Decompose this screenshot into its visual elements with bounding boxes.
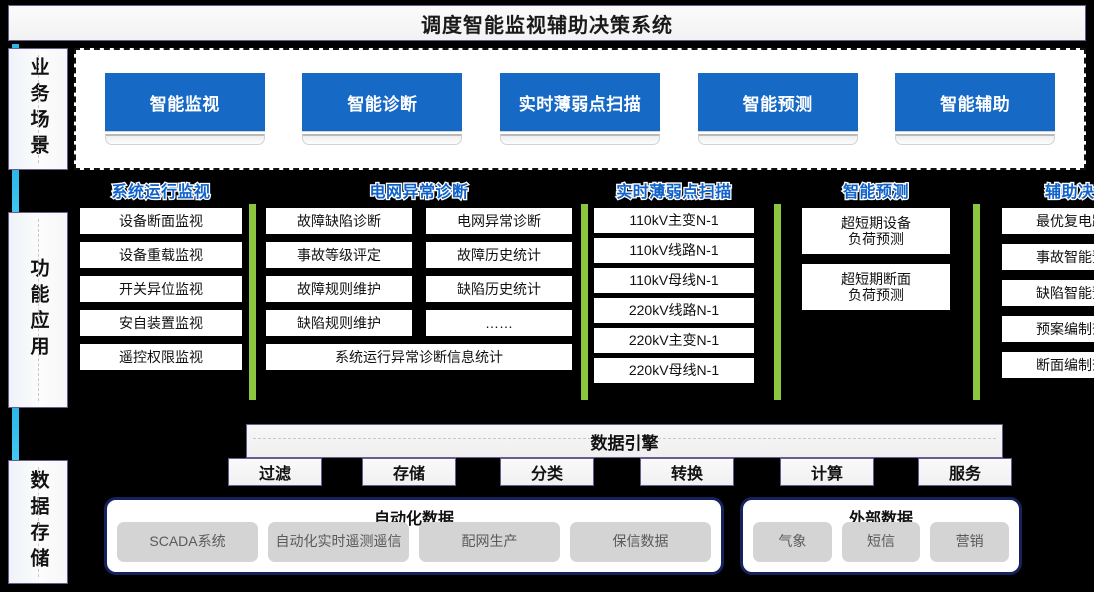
function-column-grid-anomaly-diagnosis: 电网异常诊断 故障缺陷诊断 事故等级评定 故障规则维护 缺陷规则维护 电网异常诊…: [266, 178, 572, 370]
function-column-decision-support: 辅助决策 最优复电路径 事故智能预案 缺陷智能预案 预案编制查询 断面编制查询: [1002, 178, 1094, 388]
card-shadow: [698, 134, 858, 145]
scenario-label[interactable]: 智能辅助: [895, 73, 1055, 131]
scenario-card[interactable]: 智能监视: [105, 73, 265, 145]
scenario-label[interactable]: 智能诊断: [302, 73, 462, 131]
function-item[interactable]: 最优复电路径: [1002, 208, 1094, 234]
function-item[interactable]: 设备断面监视: [80, 208, 242, 234]
function-item[interactable]: 缺陷智能预案: [1002, 280, 1094, 306]
external-data-box: 外部数据 气象 短信 营销: [740, 497, 1022, 575]
data-source-chip[interactable]: 短信: [842, 522, 921, 562]
card-shadow: [105, 134, 265, 145]
column-header: 智能预测: [802, 178, 950, 202]
column-header: 电网异常诊断: [266, 178, 572, 202]
column-header: 系统运行监视: [80, 178, 242, 202]
data-source-chip[interactable]: 气象: [753, 522, 832, 562]
function-item-wide[interactable]: 系统运行异常诊断信息统计: [266, 344, 572, 370]
sidebar-item-function-application[interactable]: 功能应用: [8, 212, 68, 408]
sidebar-item-business-scenario[interactable]: 业务场景: [8, 48, 68, 170]
scenario-card[interactable]: 智能诊断: [302, 73, 462, 145]
sidebar-rail-mid-lower: [12, 408, 19, 460]
function-item[interactable]: 超短期设备 负荷预测: [802, 208, 950, 254]
function-item[interactable]: 事故等级评定: [266, 242, 412, 268]
scenario-label[interactable]: 智能监视: [105, 73, 265, 131]
function-item[interactable]: 220kV线路N-1: [594, 298, 754, 323]
scenario-card[interactable]: 实时薄弱点扫描: [500, 73, 660, 145]
scenario-card[interactable]: 智能预测: [698, 73, 858, 145]
function-item[interactable]: 110kV母线N-1: [594, 268, 754, 293]
engine-segment-classify[interactable]: 分类: [500, 458, 594, 486]
function-column-intelligent-forecast: 智能预测 超短期设备 负荷预测 超短期断面 负荷预测: [802, 178, 950, 320]
card-shadow: [895, 134, 1055, 145]
function-item[interactable]: 110kV主变N-1: [594, 208, 754, 233]
data-source-chip[interactable]: 营销: [930, 522, 1009, 562]
function-item[interactable]: 故障历史统计: [426, 242, 572, 268]
architecture-diagram: 调度智能监视辅助决策系统 业务场景 功能应用 数据存储 智能监视 智能诊断 实时…: [0, 0, 1094, 592]
function-item[interactable]: 220kV母线N-1: [594, 358, 754, 383]
column-separator-bar: [581, 204, 588, 400]
function-item[interactable]: 预案编制查询: [1002, 316, 1094, 342]
function-item-line2: 负荷预测: [848, 231, 904, 247]
divider: [38, 55, 39, 163]
sidebar-item-data-storage[interactable]: 数据存储: [8, 460, 68, 584]
function-item[interactable]: 设备重载监视: [80, 242, 242, 268]
function-item[interactable]: 开关异位监视: [80, 276, 242, 302]
engine-segment-storage[interactable]: 存储: [362, 458, 456, 486]
scenario-label[interactable]: 实时薄弱点扫描: [500, 73, 660, 131]
function-item[interactable]: 电网异常诊断: [426, 208, 572, 234]
data-source-chip[interactable]: 保信数据: [570, 522, 711, 562]
data-source-chip[interactable]: SCADA系统: [117, 522, 258, 562]
engine-segment-service[interactable]: 服务: [918, 458, 1012, 486]
function-item-ellipsis[interactable]: ……: [426, 310, 572, 336]
engine-segment-compute[interactable]: 计算: [780, 458, 874, 486]
business-scenario-panel: 智能监视 智能诊断 实时薄弱点扫描 智能预测 智能辅助: [74, 48, 1086, 170]
function-item[interactable]: 缺陷历史统计: [426, 276, 572, 302]
column-separator-bar: [774, 204, 781, 400]
function-item[interactable]: 断面编制查询: [1002, 352, 1094, 378]
divider: [38, 219, 39, 401]
function-item[interactable]: 故障规则维护: [266, 276, 412, 302]
function-column-weak-point-scan: 实时薄弱点扫描 110kV主变N-1 110kV线路N-1 110kV母线N-1…: [594, 178, 754, 388]
function-item[interactable]: 缺陷规则维护: [266, 310, 412, 336]
function-item[interactable]: 220kV主变N-1: [594, 328, 754, 353]
column-header: 实时薄弱点扫描: [594, 178, 754, 202]
function-item[interactable]: 超短期断面 负荷预测: [802, 264, 950, 310]
function-item[interactable]: 故障缺陷诊断: [266, 208, 412, 234]
function-item[interactable]: 遥控权限监视: [80, 344, 242, 370]
page-title: 调度智能监视辅助决策系统: [421, 9, 673, 38]
card-shadow: [500, 134, 660, 145]
function-application-area: 系统运行监视 设备断面监视 设备重载监视 开关异位监视 安自装置监视 遥控权限监…: [74, 178, 1086, 410]
function-item-line2: 负荷预测: [848, 287, 904, 303]
data-source-chip[interactable]: 配网生产: [419, 522, 560, 562]
function-item[interactable]: 事故智能预案: [1002, 244, 1094, 270]
data-engine-label: 数据引擎: [583, 429, 667, 454]
sidebar-rail-mid-upper: [12, 168, 19, 218]
divider: [38, 467, 39, 577]
scenario-label[interactable]: 智能预测: [698, 73, 858, 131]
function-item[interactable]: 110kV线路N-1: [594, 238, 754, 263]
function-column-system-monitoring: 系统运行监视 设备断面监视 设备重载监视 开关异位监视 安自装置监视 遥控权限监…: [80, 178, 242, 378]
automation-data-box: 自动化数据 SCADA系统 自动化实时遥测遥信 配网生产 保信数据: [104, 497, 724, 575]
function-item-line1: 超短期断面: [841, 271, 911, 287]
data-source-chip[interactable]: 自动化实时遥测遥信: [268, 522, 409, 562]
function-item-line1: 超短期设备: [841, 215, 911, 231]
engine-segment-transform[interactable]: 转换: [640, 458, 734, 486]
engine-segment-filter[interactable]: 过滤: [228, 458, 322, 486]
card-shadow: [302, 134, 462, 145]
column-header: 辅助决策: [1002, 178, 1094, 202]
data-engine-header: 数据引擎: [246, 424, 1003, 458]
function-item[interactable]: 安自装置监视: [80, 310, 242, 336]
column-separator-bar: [249, 204, 256, 400]
scenario-card[interactable]: 智能辅助: [895, 73, 1055, 145]
page-title-bar: 调度智能监视辅助决策系统: [8, 5, 1086, 41]
column-separator-bar: [973, 204, 980, 400]
